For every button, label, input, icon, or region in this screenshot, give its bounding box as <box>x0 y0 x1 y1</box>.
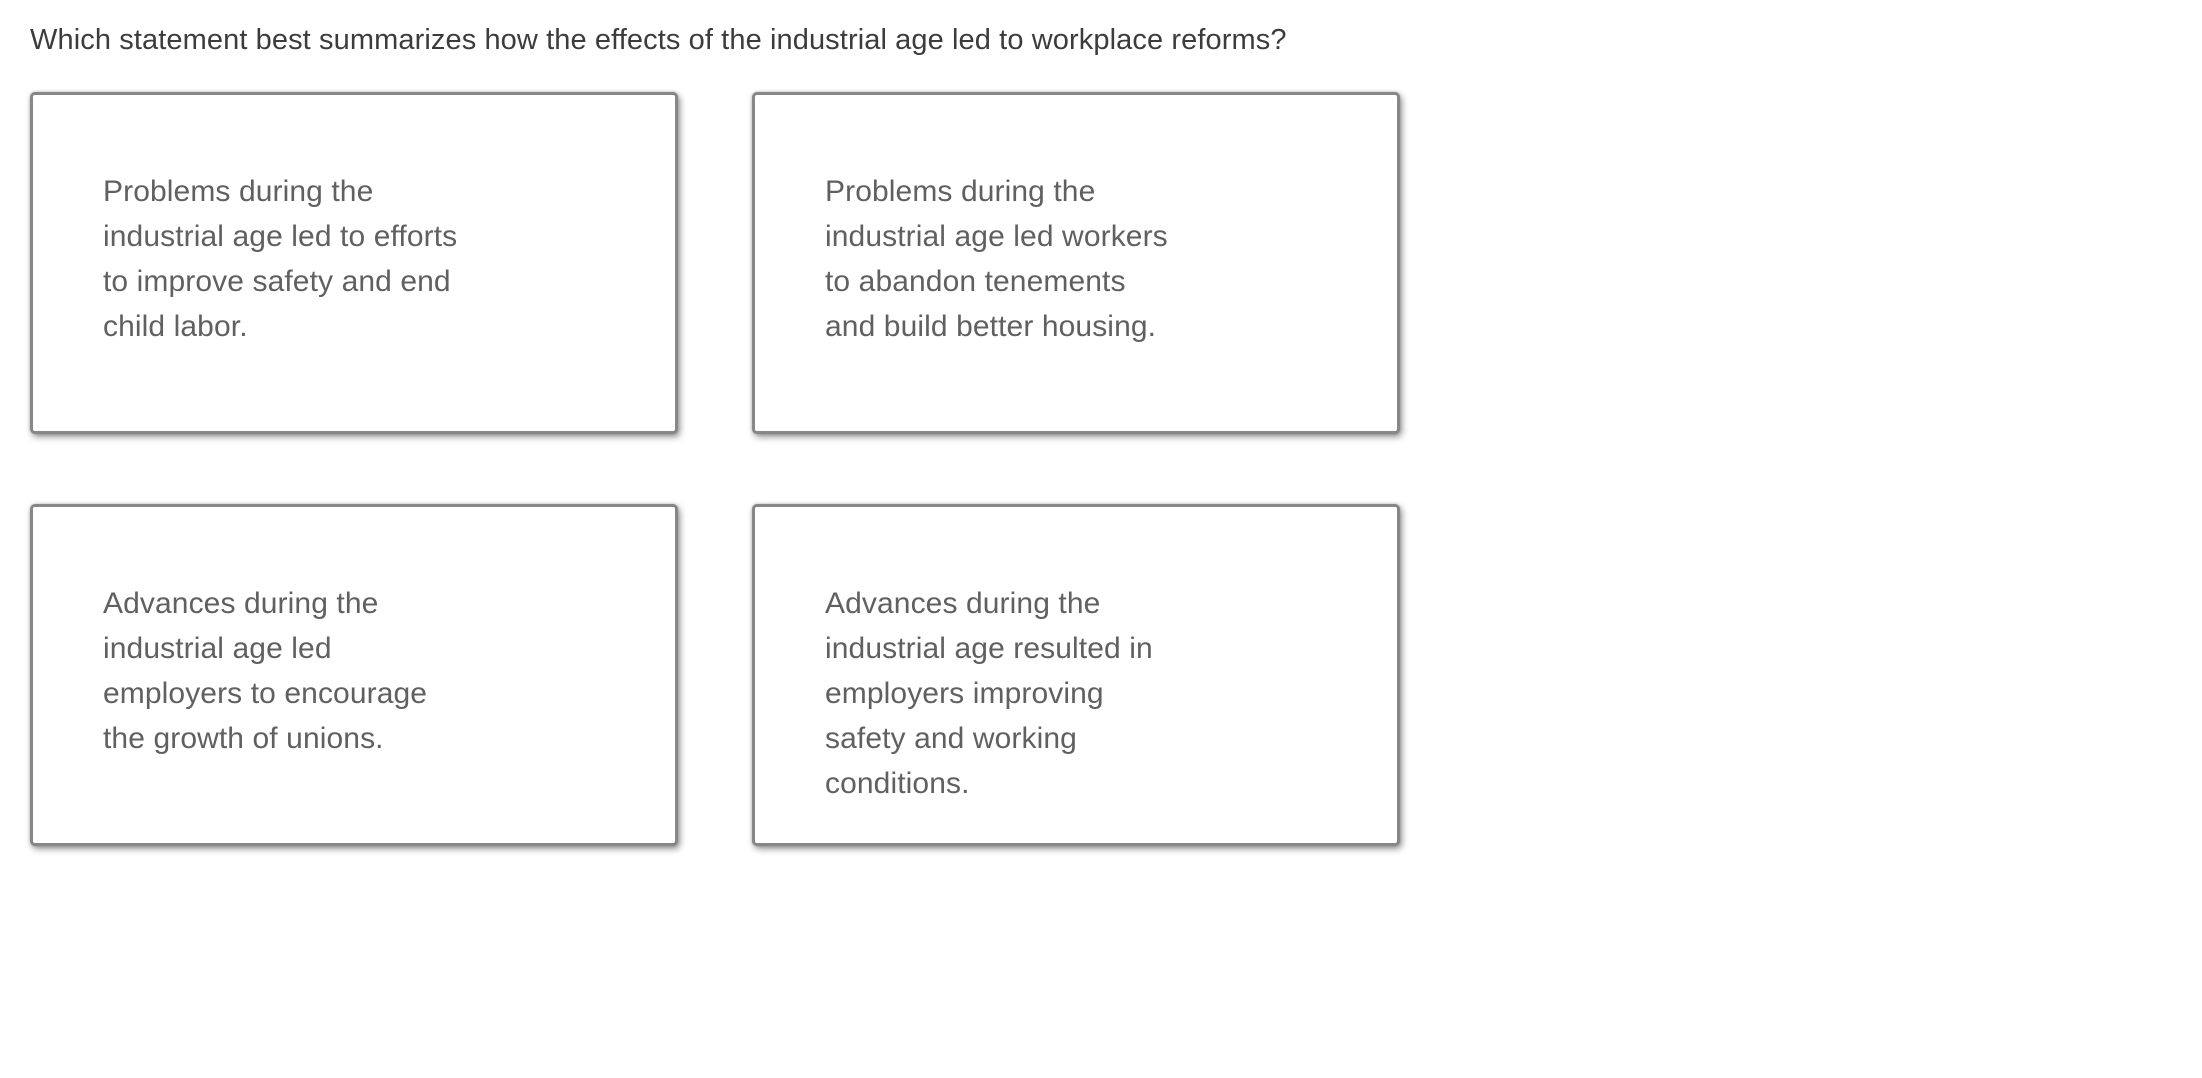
quiz-question-page: Which statement best summarizes how the … <box>0 0 2202 1078</box>
answer-choice-card-3[interactable]: Advances during the industrial age led e… <box>30 504 678 846</box>
question-prompt: Which statement best summarizes how the … <box>30 20 1287 60</box>
answer-choices-grid: Problems during the industrial age led t… <box>30 92 2120 846</box>
answer-choice-text-1: Problems during the industrial age led t… <box>103 169 457 349</box>
answer-choice-text-2: Problems during the industrial age led w… <box>825 169 1168 349</box>
answer-choice-card-2[interactable]: Problems during the industrial age led w… <box>752 92 1400 434</box>
answer-choice-text-3: Advances during the industrial age led e… <box>103 581 427 761</box>
answer-choice-card-4[interactable]: Advances during the industrial age resul… <box>752 504 1400 846</box>
answer-choice-card-1[interactable]: Problems during the industrial age led t… <box>30 92 678 434</box>
answer-choice-text-4: Advances during the industrial age resul… <box>825 581 1153 806</box>
